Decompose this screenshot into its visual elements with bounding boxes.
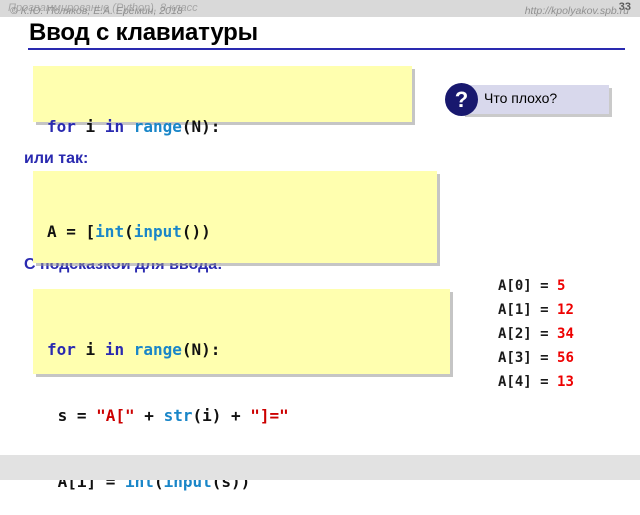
code-token: ()) xyxy=(182,222,211,241)
code-line: for i in range(N): xyxy=(47,339,450,361)
code-token: str xyxy=(164,406,193,425)
code-token: for xyxy=(47,117,76,136)
code-token: for xyxy=(47,340,76,359)
code-token: int xyxy=(95,222,124,241)
callout-label: Что плохо? xyxy=(484,90,557,106)
array-value-row: A[0] = 5 xyxy=(498,274,574,298)
code-block-list-comprehension: A = [int(input()) for i in range(N)] xyxy=(33,171,437,263)
footer-url[interactable]: http://kpolyakov.spb.ru xyxy=(525,5,629,17)
array-value-row: A[2] = 34 xyxy=(498,322,574,346)
array-values-list: A[0] = 5A[1] = 12A[2] = 34A[3] = 56A[4] … xyxy=(498,274,574,394)
array-index-label: A[3] = xyxy=(498,350,557,366)
array-index-label: A[4] = xyxy=(498,374,557,390)
code-token: in xyxy=(105,340,124,359)
footer-band xyxy=(0,455,640,480)
code-token: s = xyxy=(58,406,97,425)
code-token: (i) xyxy=(192,406,221,425)
array-value: 56 xyxy=(557,350,574,366)
array-index-label: A[1] = xyxy=(498,302,557,318)
code-block-loop-with-prompt: for i in range(N): s = "A[" + str(i) + "… xyxy=(33,289,450,374)
code-token: A = [ xyxy=(47,222,95,241)
code-token xyxy=(95,340,105,359)
array-value: 5 xyxy=(557,278,565,294)
code-token: "A[" xyxy=(96,406,135,425)
code-token: (N): xyxy=(182,340,221,359)
title-underline-rule xyxy=(28,48,625,50)
code-token: ( xyxy=(124,222,134,241)
code-token xyxy=(124,340,134,359)
array-value-row: A[1] = 12 xyxy=(498,298,574,322)
caption-alternative: или так: xyxy=(24,150,88,168)
footer-copyright: © К.Ю. Поляков, Е.А. Ерёмин, 2018 xyxy=(10,5,183,17)
code-token: in xyxy=(105,117,124,136)
code-token: "]=" xyxy=(250,406,289,425)
array-value-row: A[4] = 13 xyxy=(498,370,574,394)
code-token xyxy=(76,117,86,136)
code-line: A = [int(input()) xyxy=(47,221,437,243)
code-token xyxy=(124,117,134,136)
array-value: 34 xyxy=(557,326,574,342)
code-token: input xyxy=(134,222,182,241)
code-token xyxy=(76,340,86,359)
array-value: 12 xyxy=(557,302,574,318)
code-token: (N): xyxy=(182,117,221,136)
code-token: + xyxy=(221,406,250,425)
code-token: + xyxy=(135,406,164,425)
code-token xyxy=(95,117,105,136)
question-callout[interactable]: Что плохо? ? xyxy=(445,85,625,115)
code-block-simple-loop: for i in range(N): A[i] = int(input()) xyxy=(33,66,412,122)
array-index-label: A[2] = xyxy=(498,326,557,342)
code-token: i xyxy=(86,340,96,359)
code-line: for i in range(N): xyxy=(47,116,412,138)
array-value-row: A[3] = 56 xyxy=(498,346,574,370)
question-mark-glyph: ? xyxy=(445,83,478,116)
array-value: 13 xyxy=(557,374,574,390)
page-title: Ввод с клавиатуры xyxy=(29,19,258,47)
code-token: range xyxy=(134,340,182,359)
array-index-label: A[0] = xyxy=(498,278,557,294)
code-token: range xyxy=(134,117,182,136)
code-line: s = "A[" + str(i) + "]=" xyxy=(47,405,450,427)
code-token: i xyxy=(86,117,96,136)
